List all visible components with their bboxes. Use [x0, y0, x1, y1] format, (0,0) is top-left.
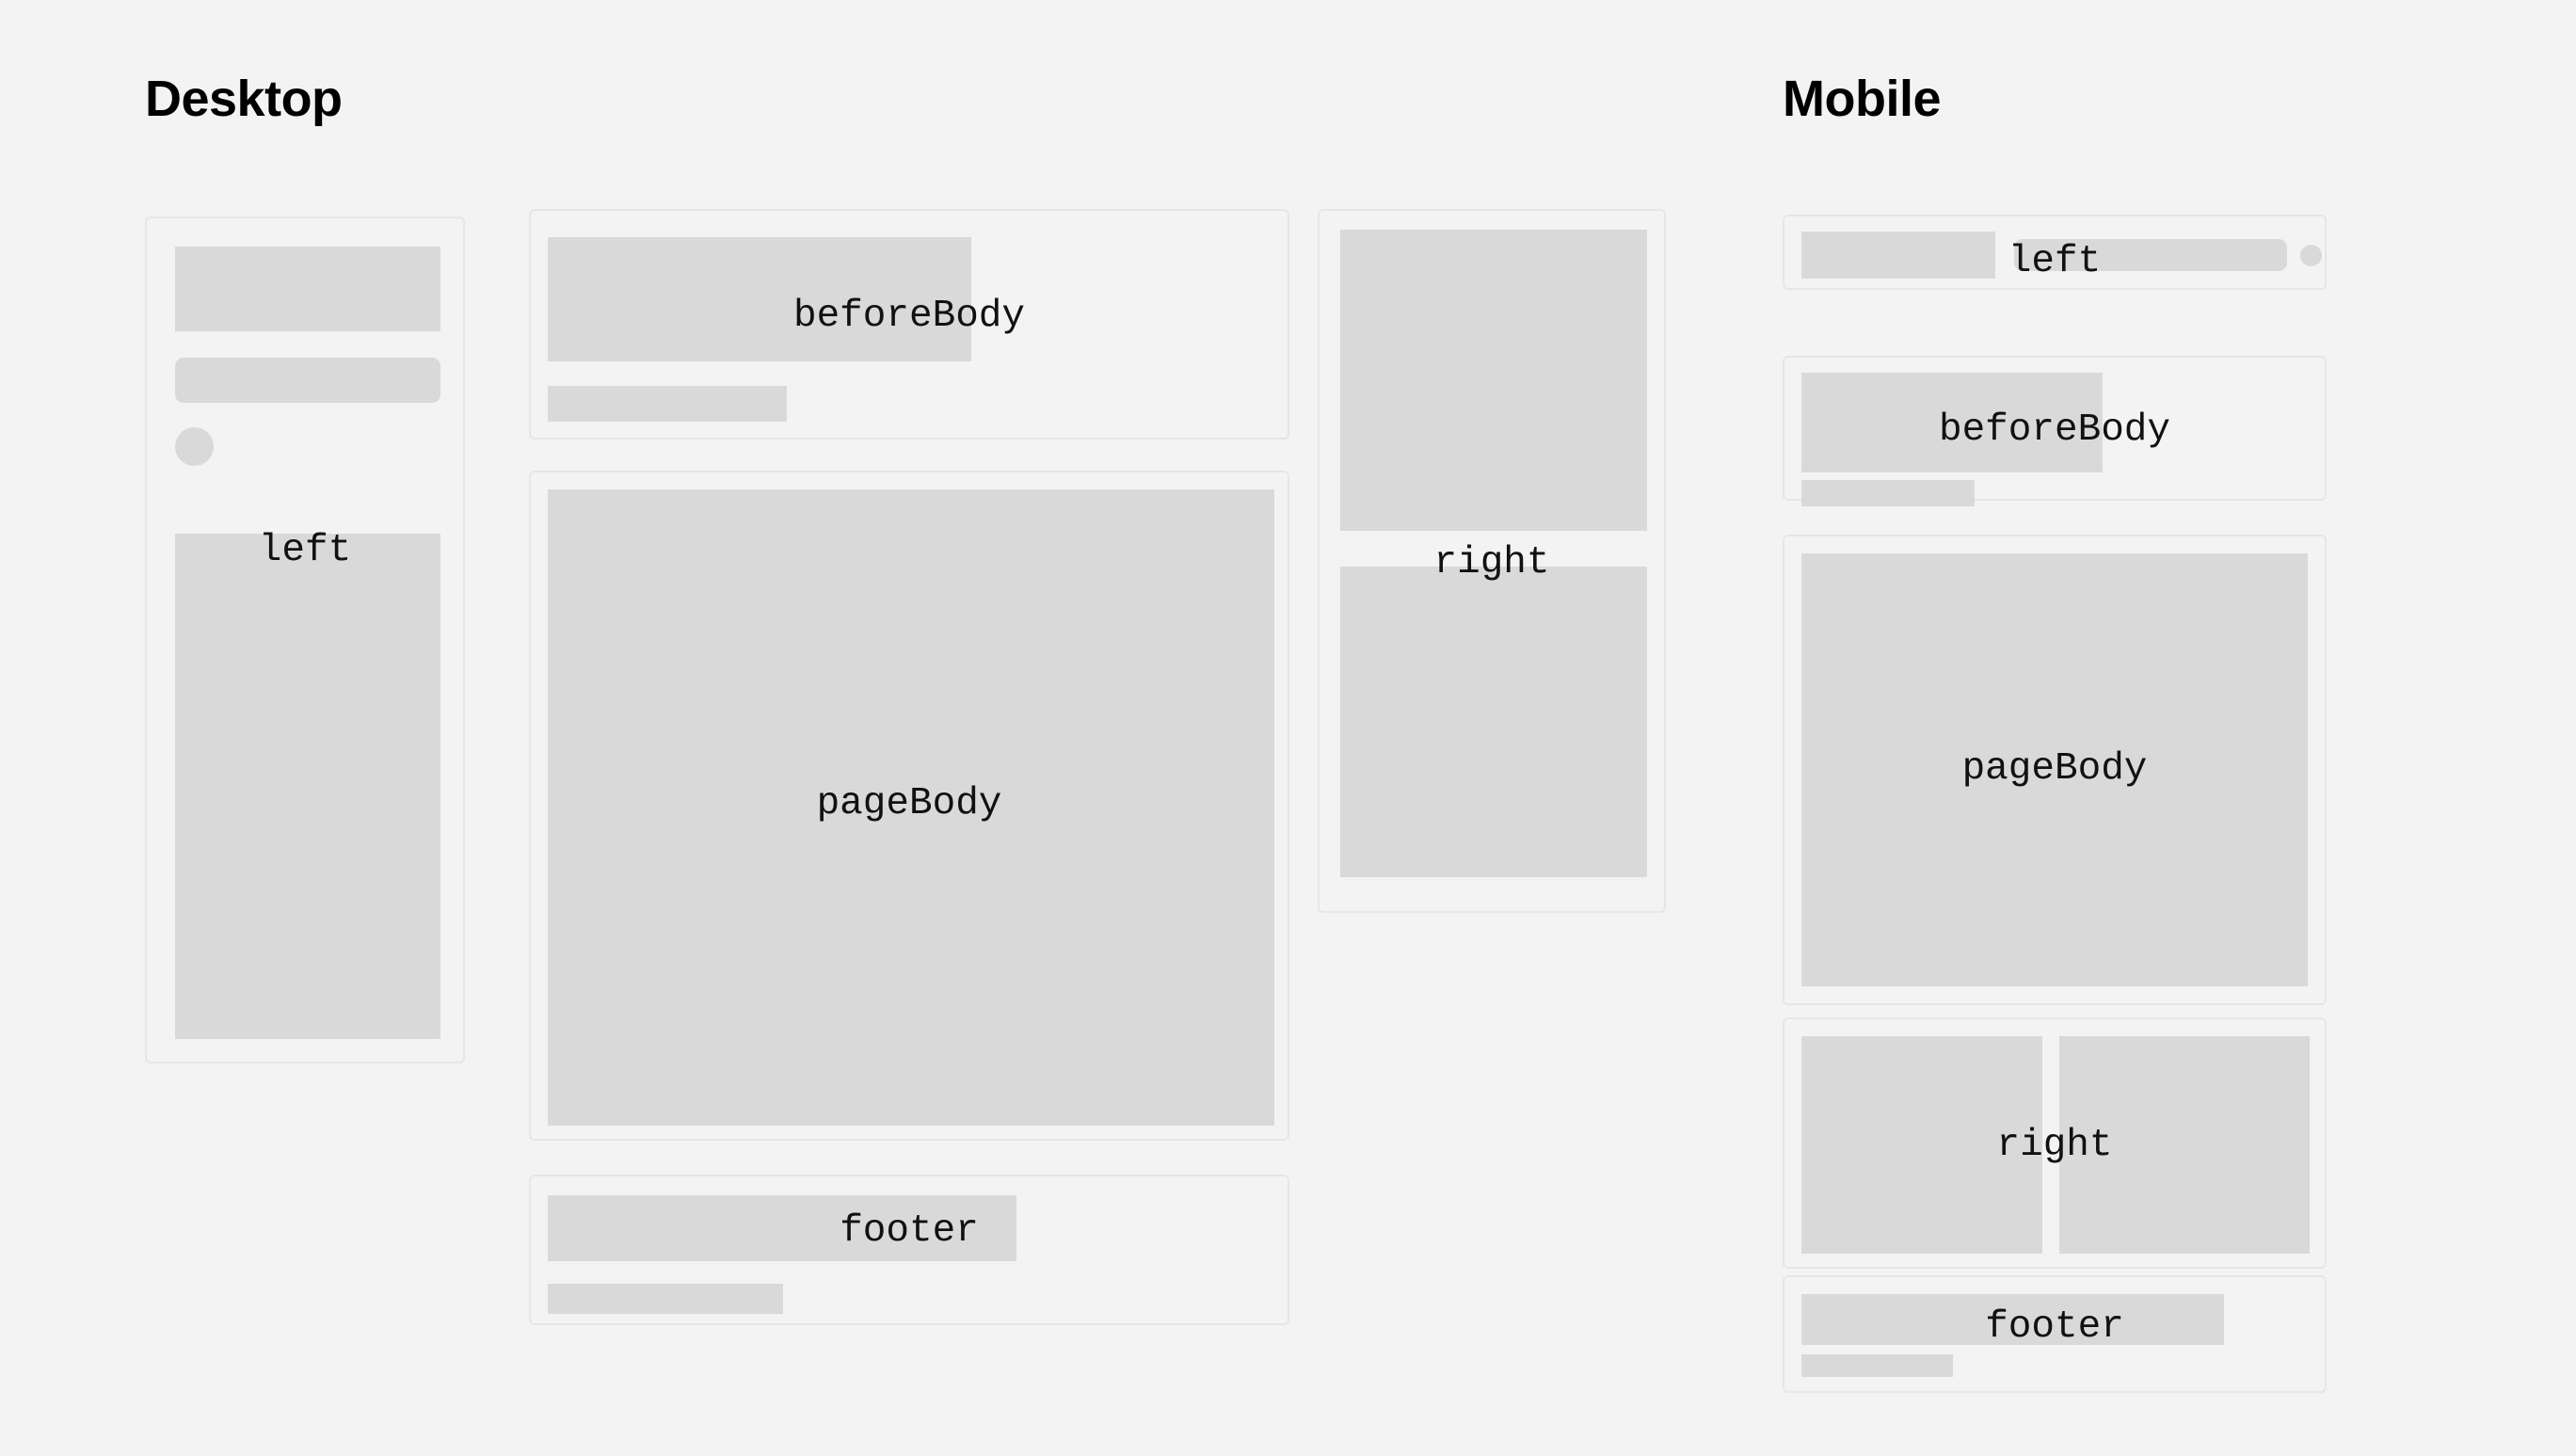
skeleton-block-primary	[1801, 373, 2103, 472]
desktop-region-footer[interactable]	[529, 1175, 1289, 1325]
skeleton-block-right-column	[2059, 1036, 2310, 1254]
skeleton-block-primary	[548, 237, 971, 361]
skeleton-avatar-circle	[2300, 245, 2322, 266]
skeleton-block-left-column	[1801, 1036, 2042, 1254]
skeleton-block-secondary	[548, 1284, 783, 1314]
desktop-section-heading: Desktop	[145, 73, 343, 124]
skeleton-block-secondary	[548, 386, 787, 422]
skeleton-block-content	[1801, 553, 2308, 986]
mobile-region-left[interactable]	[1783, 215, 2327, 290]
mobile-section-heading: Mobile	[1783, 73, 1941, 124]
skeleton-block-header	[1801, 232, 1995, 279]
mobile-region-page-body[interactable]	[1783, 535, 2327, 1005]
skeleton-block-content	[548, 489, 1274, 1126]
desktop-region-page-body[interactable]	[529, 471, 1289, 1141]
skeleton-block-top	[1340, 230, 1647, 531]
desktop-region-right[interactable]	[1318, 209, 1666, 913]
desktop-region-left[interactable]	[145, 216, 465, 1064]
mobile-region-before-body[interactable]	[1783, 356, 2327, 501]
desktop-region-before-body[interactable]	[529, 209, 1289, 440]
mobile-region-footer[interactable]	[1783, 1275, 2327, 1393]
mobile-region-right[interactable]	[1783, 1017, 2327, 1269]
skeleton-block-secondary	[1801, 1354, 1953, 1377]
skeleton-bar-search	[2014, 239, 2287, 271]
skeleton-block-primary	[548, 1195, 1016, 1261]
skeleton-block-body	[175, 534, 440, 1039]
skeleton-block-secondary	[1801, 480, 1975, 506]
skeleton-avatar-circle	[175, 427, 214, 466]
skeleton-bar-search	[175, 358, 440, 403]
skeleton-block-primary	[1801, 1294, 2224, 1345]
skeleton-block-header	[175, 247, 440, 331]
skeleton-block-bottom	[1340, 567, 1647, 877]
